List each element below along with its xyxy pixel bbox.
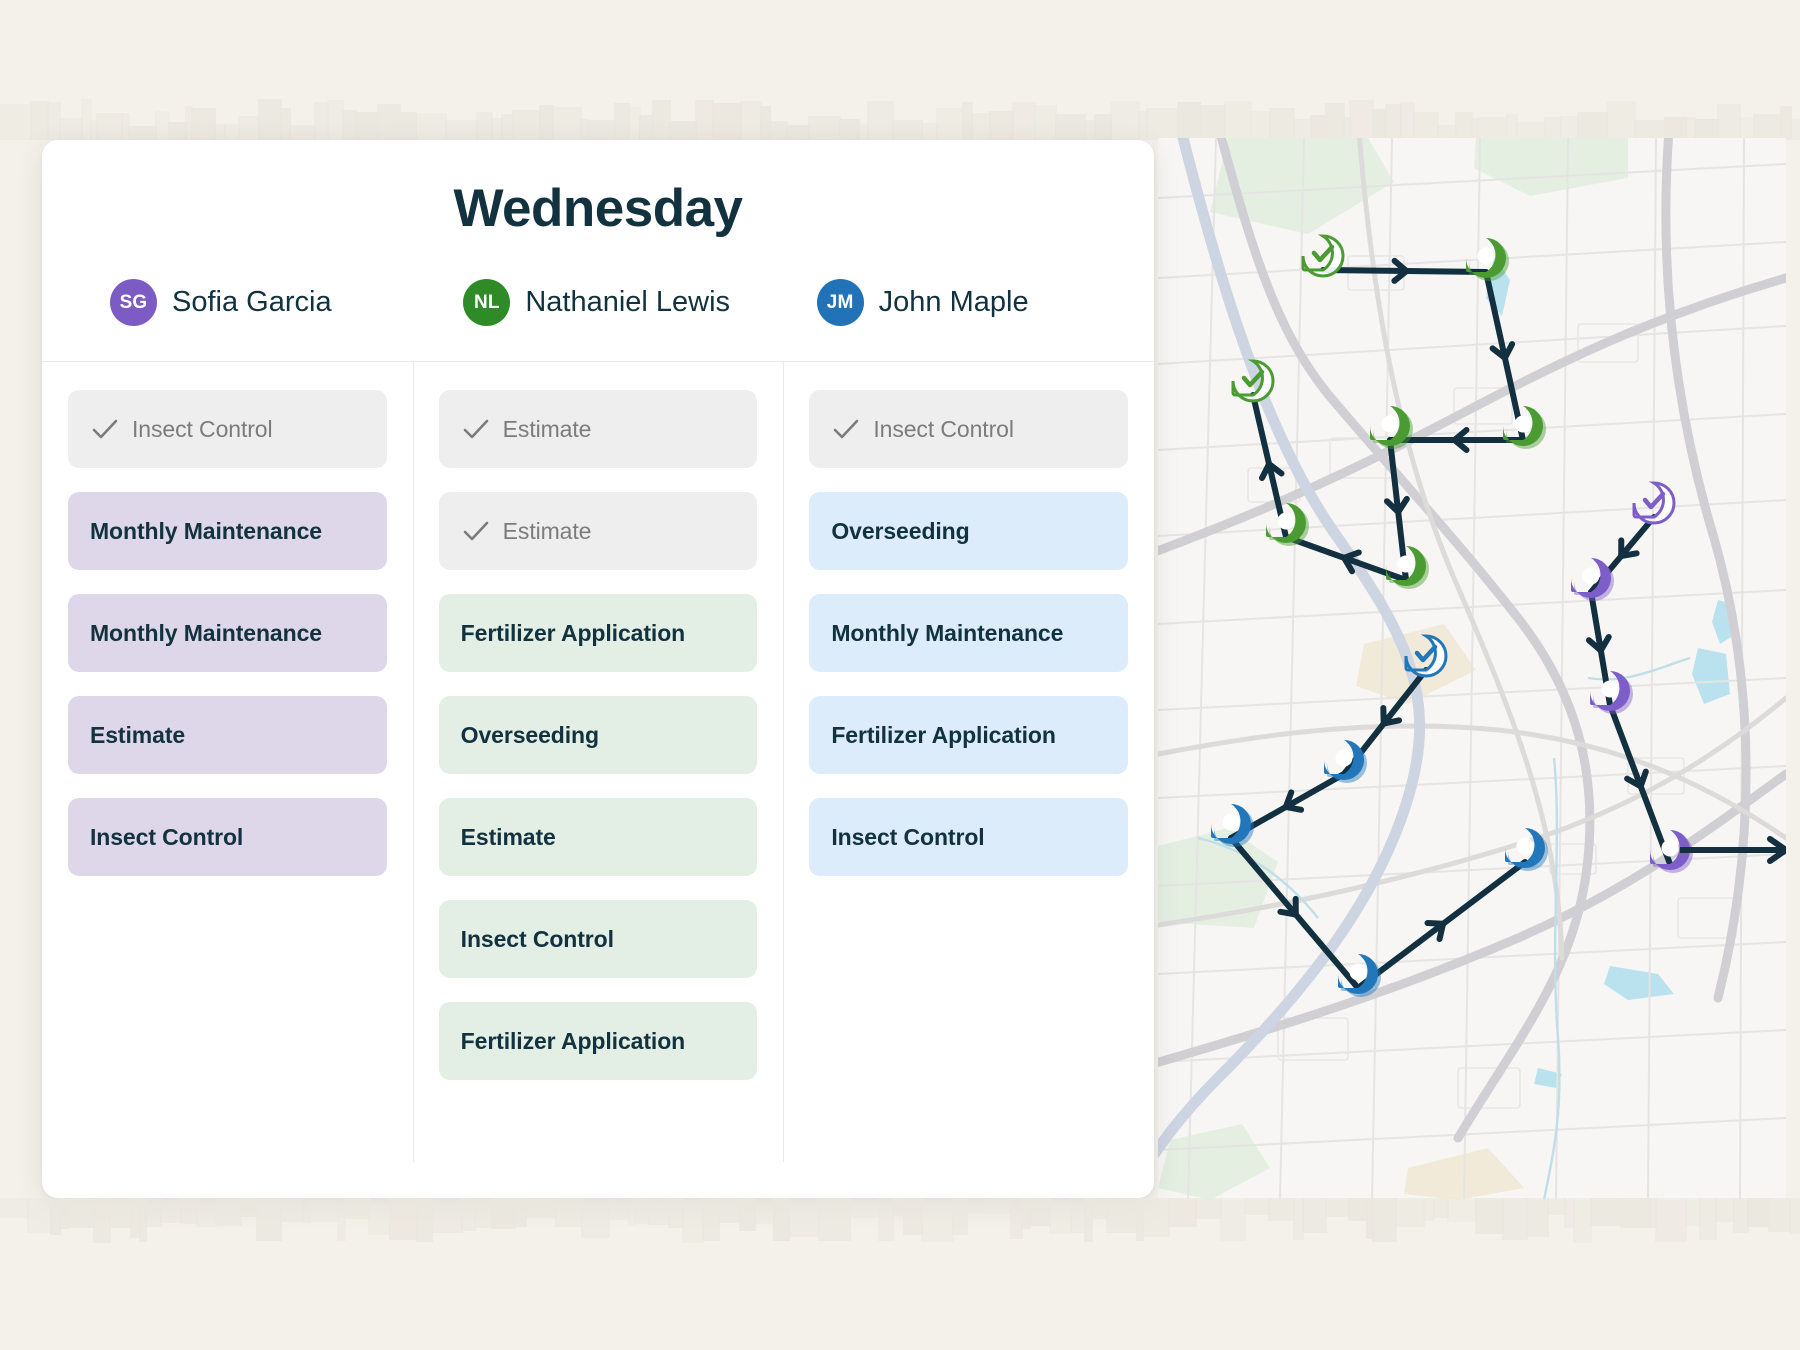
app-root: Wednesday SG Sofia Garcia NL Nathaniel L… <box>0 0 1800 1350</box>
check-icon <box>461 520 491 542</box>
task-card[interactable]: Fertilizer Application <box>439 594 758 672</box>
task-card[interactable]: Insect Control <box>439 900 758 978</box>
check-icon <box>831 418 861 440</box>
task-card[interactable]: Overseeding <box>809 492 1128 570</box>
task-label: Fertilizer Application <box>461 620 685 647</box>
task-column-sofia-garcia: Insect ControlMonthly MaintenanceMonthly… <box>42 362 413 1198</box>
task-label: Insect Control <box>90 824 243 851</box>
task-card[interactable]: Monthly Maintenance <box>809 594 1128 672</box>
task-label: Insect Control <box>873 416 1014 443</box>
task-label: Monthly Maintenance <box>90 620 322 647</box>
crew-member-name: John Maple <box>879 286 1029 319</box>
task-card[interactable]: Insect Control <box>68 798 387 876</box>
task-label: Overseeding <box>461 722 599 749</box>
route-map[interactable] <box>1158 138 1786 1200</box>
task-label: Monthly Maintenance <box>90 518 322 545</box>
crew-member-nathaniel-lewis[interactable]: NL Nathaniel Lewis <box>421 279 774 326</box>
check-icon <box>461 418 491 440</box>
task-card[interactable]: Monthly Maintenance <box>68 594 387 672</box>
avatar: SG <box>110 279 157 326</box>
task-label: Fertilizer Application <box>831 722 1055 749</box>
task-card[interactable]: Fertilizer Application <box>439 1002 758 1080</box>
crew-member-sofia-garcia[interactable]: SG Sofia Garcia <box>68 279 421 326</box>
task-label: Estimate <box>503 416 592 443</box>
task-card[interactable]: Estimate <box>68 696 387 774</box>
crew-member-name: Sofia Garcia <box>172 286 332 319</box>
task-card[interactable]: Insect Control <box>809 798 1128 876</box>
task-label: Estimate <box>461 824 556 851</box>
task-card[interactable]: Overseeding <box>439 696 758 774</box>
torn-paper-bottom-edge <box>0 1198 1800 1250</box>
task-label: Insect Control <box>831 824 984 851</box>
task-label: Monthly Maintenance <box>831 620 1063 647</box>
task-card[interactable]: Estimate <box>439 798 758 876</box>
page-title: Wednesday <box>42 140 1154 235</box>
schedule-card: Wednesday SG Sofia Garcia NL Nathaniel L… <box>42 140 1154 1198</box>
task-card[interactable]: Insect Control <box>68 390 387 468</box>
task-column-nathaniel-lewis: EstimateEstimateFertilizer ApplicationOv… <box>413 362 784 1198</box>
torn-paper-top-edge <box>0 92 1800 140</box>
route-map-panel[interactable] <box>1158 138 1786 1200</box>
task-card[interactable]: Insect Control <box>809 390 1128 468</box>
task-label: Insect Control <box>461 926 614 953</box>
avatar: NL <box>463 279 510 326</box>
task-card[interactable]: Estimate <box>439 390 758 468</box>
crew-member-name: Nathaniel Lewis <box>525 286 730 319</box>
card-header: Wednesday SG Sofia Garcia NL Nathaniel L… <box>42 140 1154 362</box>
task-card[interactable]: Fertilizer Application <box>809 696 1128 774</box>
check-icon <box>90 418 120 440</box>
task-label: Overseeding <box>831 518 969 545</box>
task-card[interactable]: Estimate <box>439 492 758 570</box>
task-label: Insect Control <box>132 416 273 443</box>
task-card[interactable]: Monthly Maintenance <box>68 492 387 570</box>
task-columns: Insect ControlMonthly MaintenanceMonthly… <box>42 362 1154 1198</box>
crew-member-john-maple[interactable]: JM John Maple <box>775 279 1128 326</box>
avatar: JM <box>817 279 864 326</box>
crew-row: SG Sofia Garcia NL Nathaniel Lewis JM Jo… <box>42 279 1154 326</box>
task-label: Estimate <box>90 722 185 749</box>
task-label: Fertilizer Application <box>461 1028 685 1055</box>
task-label: Estimate <box>503 518 592 545</box>
task-column-john-maple: Insect ControlOverseedingMonthly Mainten… <box>783 362 1154 1198</box>
